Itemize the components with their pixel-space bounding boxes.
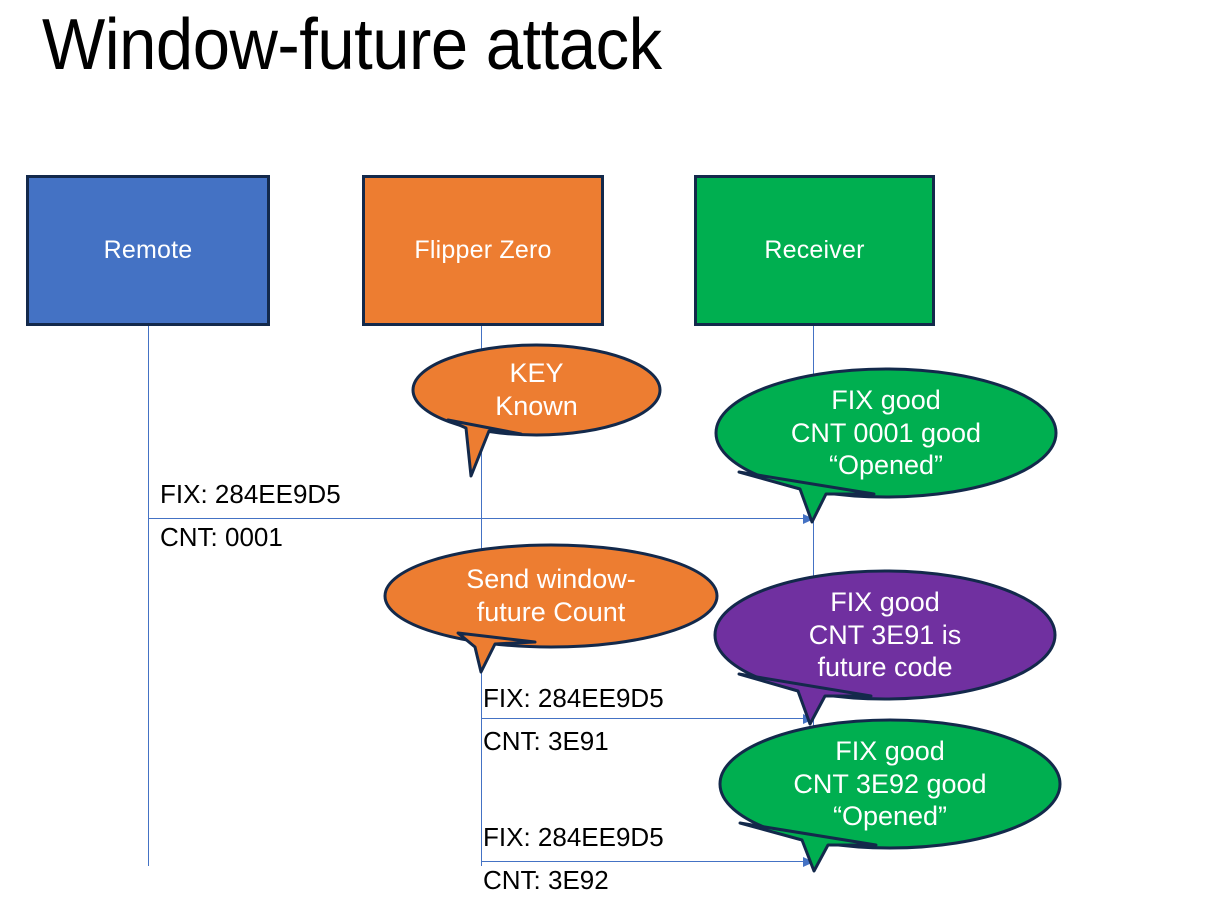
actor-box-receiver[interactable]: Receiver bbox=[694, 175, 935, 326]
actor-label-flipper-zero: Flipper Zero bbox=[414, 236, 551, 265]
callout-send-window-future-count: Send window- future Count bbox=[383, 544, 719, 648]
callout-fix-good-cnt-3e91-future-code: FIX good CNT 3E91 is future code bbox=[713, 570, 1057, 700]
message-3-cnt-label: CNT: 3E92 bbox=[483, 867, 609, 893]
page-title: Window-future attack bbox=[42, 6, 662, 85]
lifeline-remote bbox=[148, 326, 149, 866]
actor-box-flipper-zero[interactable]: Flipper Zero bbox=[362, 175, 604, 326]
message-2-fix-label: FIX: 284EE9D5 bbox=[483, 685, 664, 711]
callout-key-known: KEY Known bbox=[411, 344, 662, 436]
message-3-fix-label: FIX: 284EE9D5 bbox=[483, 824, 664, 850]
message-2-cnt-label: CNT: 3E91 bbox=[483, 728, 609, 754]
actor-label-receiver: Receiver bbox=[764, 236, 864, 265]
actor-label-remote: Remote bbox=[104, 236, 193, 265]
message-1-fix-label: FIX: 284EE9D5 bbox=[160, 481, 341, 507]
message-1-cnt-label: CNT: 0001 bbox=[160, 524, 283, 550]
callout-fix-good-cnt-3e92: FIX good CNT 3E92 good “Opened” bbox=[718, 719, 1062, 849]
actor-box-remote[interactable]: Remote bbox=[26, 175, 270, 326]
callout-fix-good-cnt-0001: FIX good CNT 0001 good “Opened” bbox=[714, 368, 1058, 498]
